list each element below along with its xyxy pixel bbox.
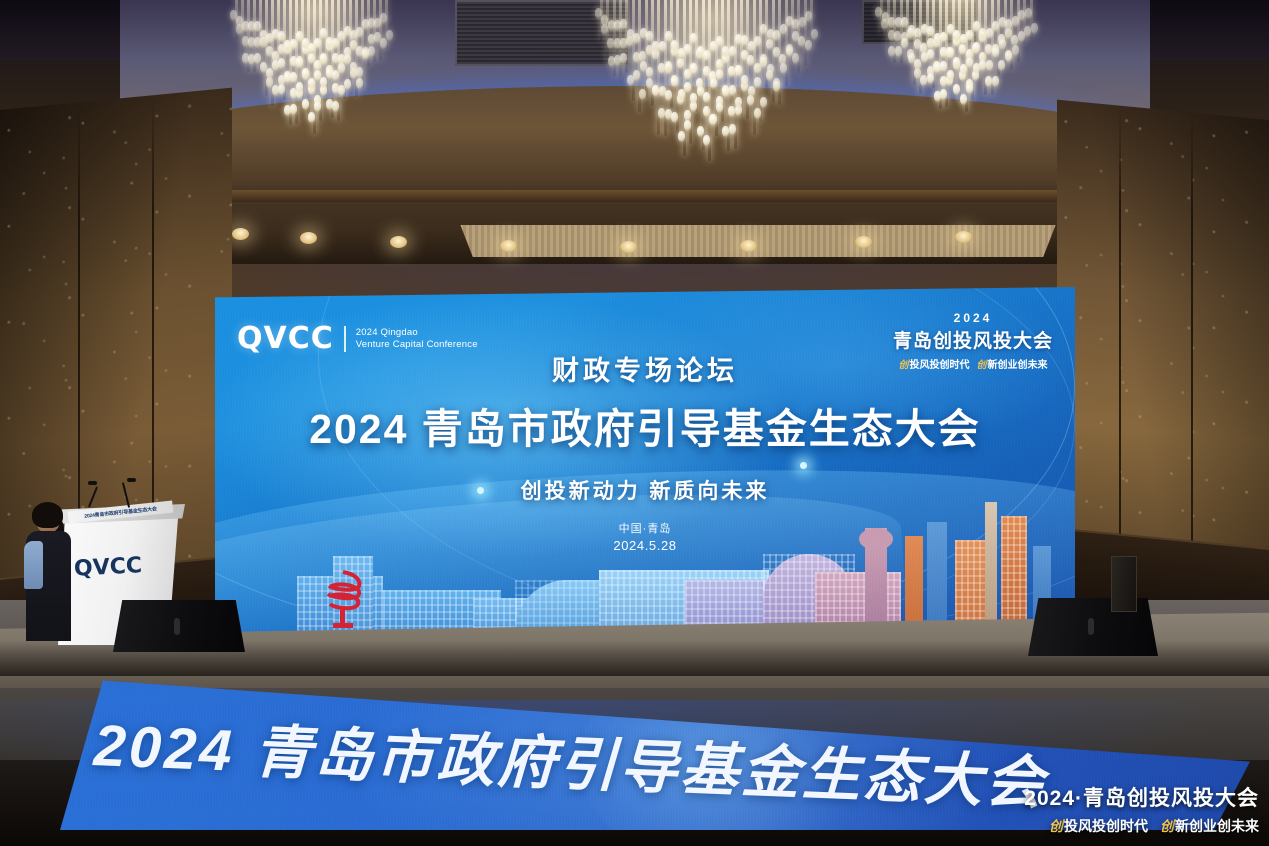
watermark-tagline-left: 创投风投创时代: [1049, 816, 1148, 836]
ceiling-downlight: [620, 241, 637, 253]
side-equipment-rack: [1111, 556, 1137, 612]
ceiling-projection-screen-housing: [448, 225, 1068, 257]
person-hair: [32, 502, 63, 528]
gold-chuang-mark-icon: 创: [1160, 818, 1174, 834]
main-title: 2024 青岛市政府引导基金生态大会: [215, 395, 1075, 455]
main-led-screen: QVCC 2024 Qingdao Venture Capital Confer…: [215, 287, 1075, 632]
ceiling-vent-right: [862, 0, 978, 44]
ceiling-downlight: [955, 231, 972, 243]
right-wall-panels: [1057, 100, 1269, 640]
ceiling-downlight: [740, 240, 757, 252]
slogan: 创投新动力 新质向未来: [215, 475, 1075, 505]
conference-stage-photo: QVCC 2024 Qingdao Venture Capital Confer…: [0, 0, 1269, 846]
logo-subtitle-line1: 2024 Qingdao: [356, 327, 478, 339]
podium-qvcc-logo: QVCC: [73, 553, 142, 582]
ceiling-downlight: [232, 228, 249, 240]
person-standing: [24, 505, 74, 640]
led-center-text-block: 财政专场论坛 2024 青岛市政府引导基金生态大会 创投新动力 新质向未来 中国…: [215, 349, 1075, 553]
logo-subtitle: 2024 Qingdao Venture Capital Conference: [356, 327, 478, 351]
led-glow-dot: [477, 487, 484, 494]
ceiling-downlight: [300, 232, 317, 244]
watermark-taglines: 创投风投创时代 创新创业创未来: [1024, 816, 1259, 836]
gold-chuang-mark-icon: 创: [1049, 818, 1063, 834]
monitor-handle: [1088, 618, 1094, 635]
ceiling-wood-strip: [150, 190, 1125, 202]
person-shirt-sleeve: [24, 541, 43, 589]
monitor-handle: [174, 618, 180, 635]
location-label: 中国·青岛: [215, 520, 1075, 536]
watermark-tagline-right-text: 新创业创未来: [1175, 818, 1259, 834]
forum-label: 财政专场论坛: [215, 349, 1075, 388]
ceiling-downlight: [855, 236, 872, 248]
ceiling-downlight: [390, 236, 407, 248]
microphone-head: [127, 478, 136, 482]
stage-monitor-speaker-left: [113, 600, 245, 652]
microphone-head: [88, 481, 97, 485]
ceiling-vent-left: [455, 0, 630, 66]
watermark-tagline-left-text: 投风投创时代: [1064, 818, 1148, 834]
logo-divider: [344, 326, 346, 352]
event-watermark: 2024·青岛创投风投大会 创投风投创时代 创新创业创未来: [1024, 782, 1259, 836]
date-label: 2024.5.28: [215, 538, 1075, 553]
badge-year: 2024: [893, 311, 1053, 325]
led-glow-dot: [800, 462, 807, 469]
watermark-tagline-right: 创新创业创未来: [1160, 816, 1259, 836]
stage-monitor-speaker-right: [1028, 598, 1158, 656]
ceiling-downlight: [500, 240, 517, 252]
watermark-title: 2024·青岛创投风投大会: [1024, 782, 1259, 812]
